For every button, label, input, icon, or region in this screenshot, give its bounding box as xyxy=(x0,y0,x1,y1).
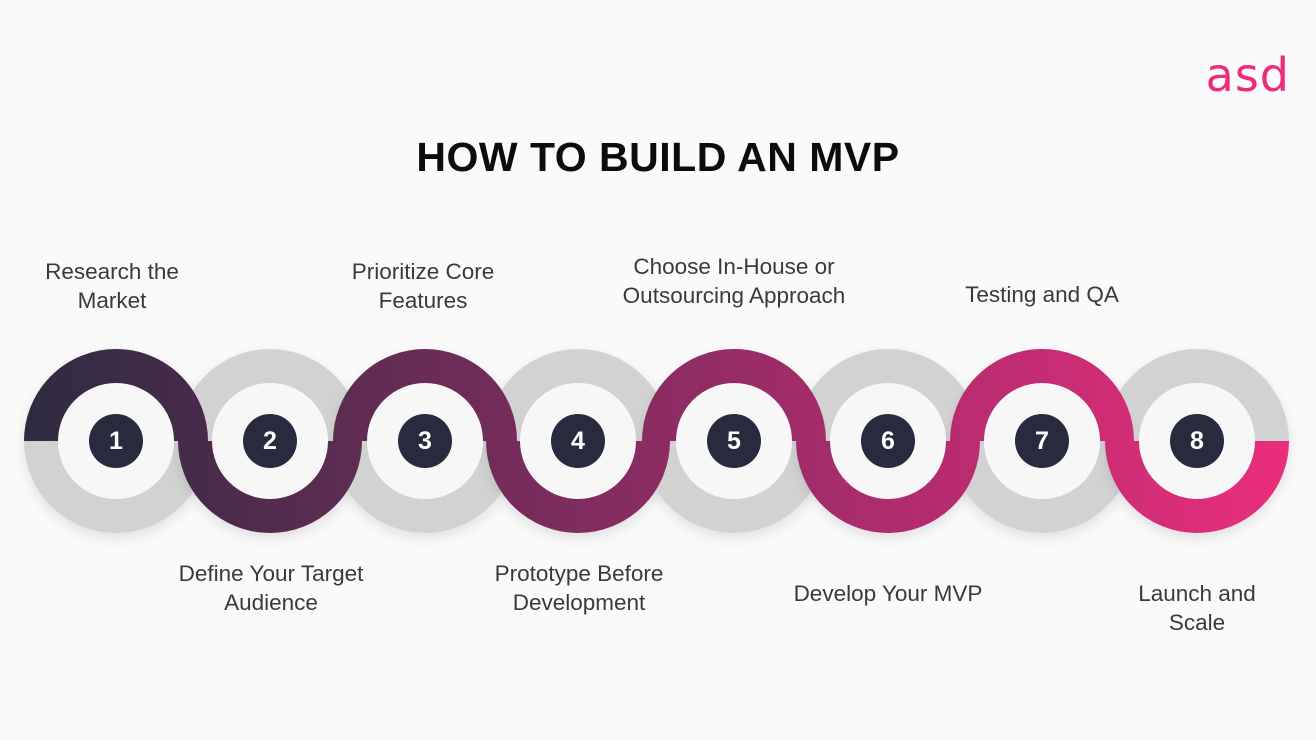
step-label-8: Launch and Scale xyxy=(1138,580,1257,638)
step-badge-2[interactable]: 2 xyxy=(243,414,297,468)
step-number-6: 6 xyxy=(881,429,895,454)
step-label-1: Research the Market xyxy=(45,258,179,316)
step-number-4: 4 xyxy=(571,429,585,454)
step-badge-6[interactable]: 6 xyxy=(861,414,915,468)
step-number-2: 2 xyxy=(263,429,277,454)
step-label-4: Prototype Before Development xyxy=(495,560,664,618)
step-badge-1[interactable]: 1 xyxy=(89,414,143,468)
step-badge-5[interactable]: 5 xyxy=(707,414,761,468)
step-badge-4[interactable]: 4 xyxy=(551,414,605,468)
step-label-7: Testing and QA xyxy=(965,281,1119,310)
step-badge-8[interactable]: 8 xyxy=(1170,414,1224,468)
step-badge-3[interactable]: 3 xyxy=(398,414,452,468)
step-badge-7[interactable]: 7 xyxy=(1015,414,1069,468)
process-flow-diagram: 12345678 Research the MarketDefine Your … xyxy=(0,0,1316,740)
step-label-3: Prioritize Core Features xyxy=(352,258,495,316)
step-label-6: Develop Your MVP xyxy=(794,580,983,609)
step-number-8: 8 xyxy=(1190,429,1204,454)
flow-rings-svg xyxy=(0,0,1316,740)
step-number-3: 3 xyxy=(418,429,432,454)
step-number-1: 1 xyxy=(109,429,123,454)
step-label-2: Define Your Target Audience xyxy=(179,560,364,618)
infographic-canvas: asd HOW TO BUILD AN MVP 12345678 Researc… xyxy=(0,0,1316,740)
step-number-5: 5 xyxy=(727,429,741,454)
step-number-7: 7 xyxy=(1035,429,1049,454)
step-label-5: Choose In-House or Outsourcing Approach xyxy=(623,253,846,311)
